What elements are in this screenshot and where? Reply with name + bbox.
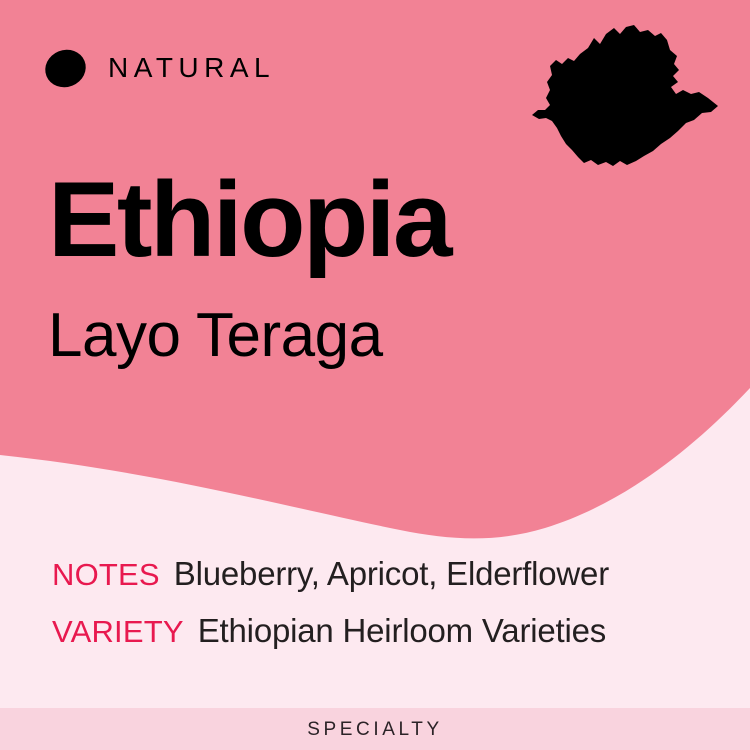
detail-row-variety: VARIETY Ethiopian Heirloom Varieties	[52, 609, 712, 654]
detail-key-variety: VARIETY	[52, 611, 184, 653]
detail-value-variety: Ethiopian Heirloom Varieties	[198, 609, 606, 654]
detail-list: NOTES Blueberry, Apricot, Elderflower VA…	[52, 552, 712, 653]
coffee-bean-icon	[40, 43, 92, 93]
page-title: Ethiopia	[48, 166, 450, 273]
detail-value-notes: Blueberry, Apricot, Elderflower	[174, 552, 609, 597]
process-badge: NATURAL	[45, 44, 275, 92]
ethiopia-map-icon	[528, 20, 724, 178]
process-label: NATURAL	[108, 54, 275, 82]
coffee-label-card: NATURAL Ethiopia Layo Teraga NOTES Blueb…	[0, 0, 750, 750]
footer-bar: SPECIALTY	[0, 708, 750, 750]
farm-subtitle: Layo Teraga	[48, 303, 383, 370]
detail-key-notes: NOTES	[52, 554, 160, 596]
detail-row-notes: NOTES Blueberry, Apricot, Elderflower	[52, 552, 712, 597]
grade-label: SPECIALTY	[307, 720, 443, 739]
